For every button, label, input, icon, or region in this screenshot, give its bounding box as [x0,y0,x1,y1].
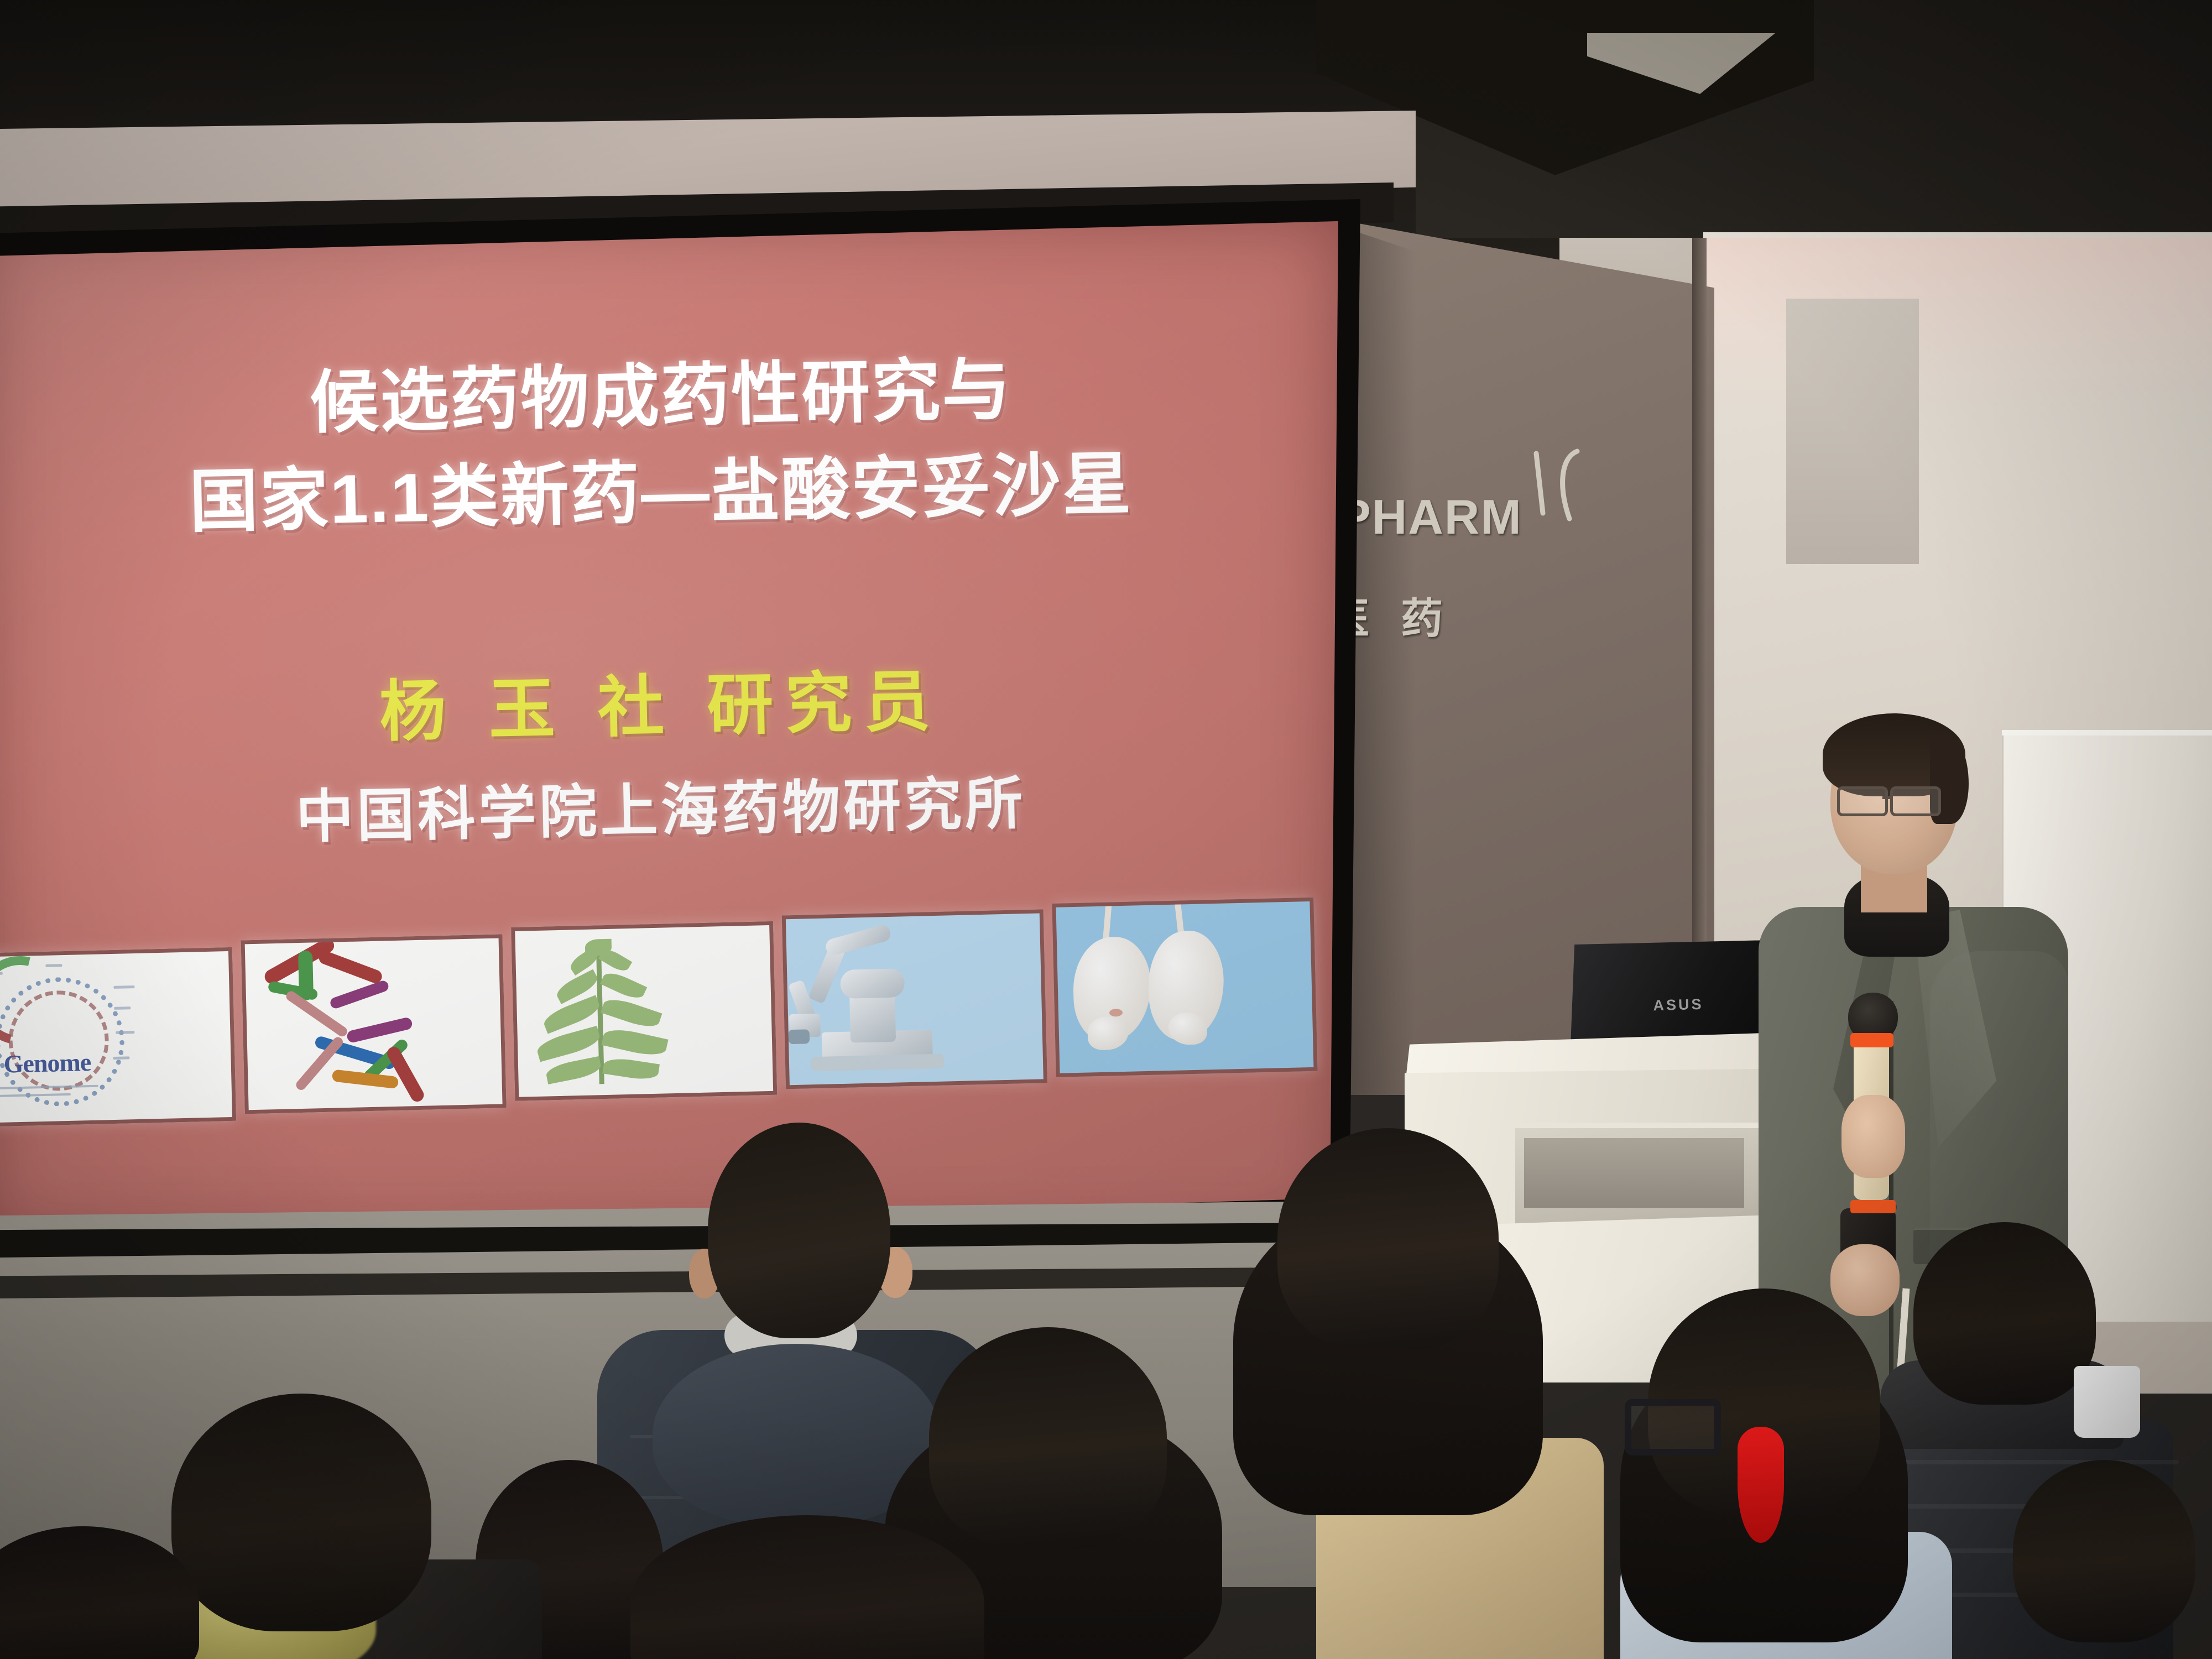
audience-person-front-center [597,1515,1018,1659]
head [171,1394,431,1631]
genome-label: Genome [3,1047,91,1079]
audience-woman-red-hair-tie [1559,1288,1980,1659]
head [0,1526,199,1659]
audience-man-back-right [1991,1460,2212,1659]
slide-presenter-name: 杨 玉 社 研究员 [0,639,1338,761]
eyeglasses-lens-right [1890,786,1941,816]
thumb-laboratory-mice [1052,898,1317,1077]
lecture-hall-photo: PHARM 医 药 候选药物成药性研究与 国家1.1类新药—盐酸安妥沙星 杨 玉… [0,0,2212,1659]
microphone-band-lower [1850,1200,1896,1213]
audience-person-left-edge [0,1526,199,1659]
red-hair-tie [1738,1427,1784,1543]
wall-sign-pharm: PHARM [1338,487,1670,547]
microphone-band-upper [1850,1033,1893,1047]
projection-screen: 候选药物成药性研究与 国家1.1类新药—盐酸安妥沙星 杨 玉 社 研究员 中国科… [0,221,1338,1244]
paper-cup [2074,1366,2140,1438]
wall-sign-chinese: 医 药 [1327,592,1659,647]
head [708,1123,890,1338]
thumb-laboratory-robot-arm [781,909,1047,1089]
head [1277,1128,1499,1349]
thumb-artemisia-plant [511,921,776,1101]
right-wall-warm-glow [1703,238,2212,415]
eyeglasses-lens-left [1837,786,1888,816]
eyeglasses-bridge [1882,796,1891,799]
wall-niche [1786,299,1919,564]
head [2013,1460,2195,1642]
slide-thumbnail-strip: Genome [0,903,1318,1117]
eyeglasses [1625,1399,1721,1455]
thumb-protein-ribbon-structure [241,934,507,1114]
slide-affiliation: 中国科学院上海药物研究所 [0,750,1338,859]
laptop-brand-label: ASUS [1645,994,1712,1015]
speaker-hand-on-mic [1841,1095,1905,1178]
thumb-genome-circular-map: Genome [0,947,236,1127]
head [630,1515,984,1659]
